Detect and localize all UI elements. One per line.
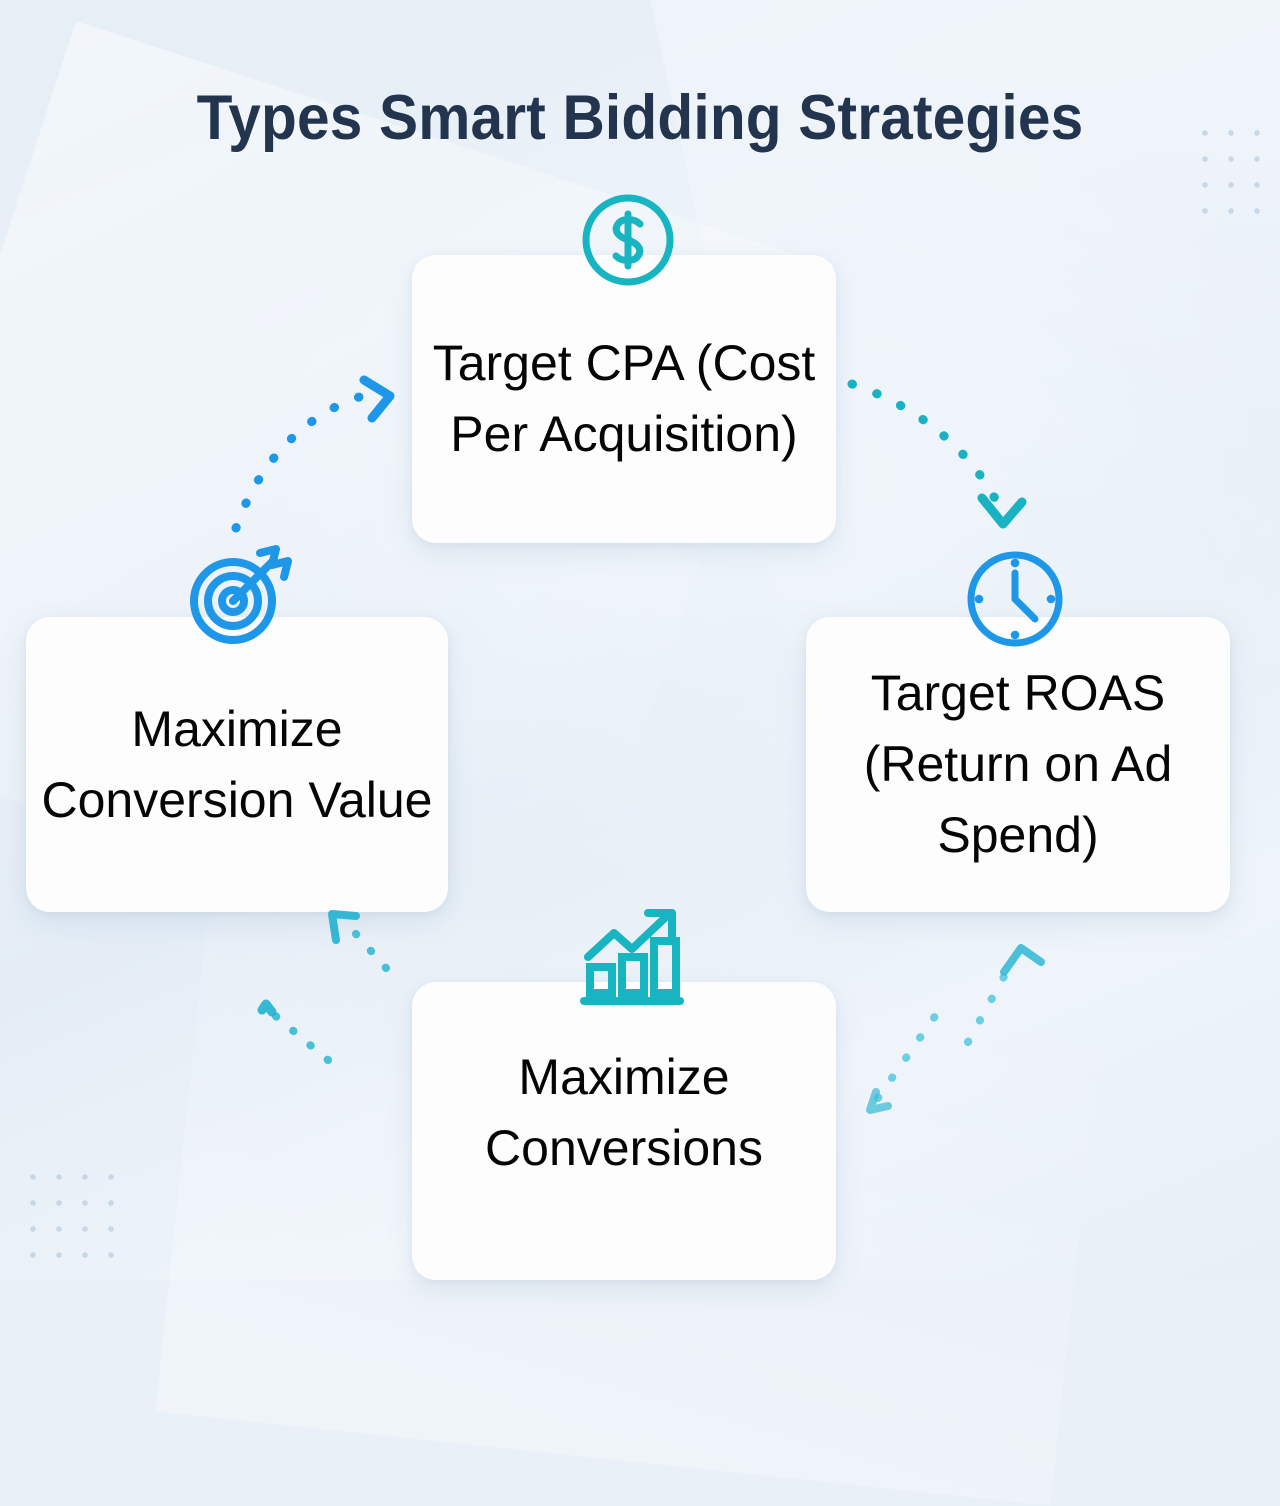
node-label: Maximize Conversion Value <box>26 694 448 836</box>
dot-grid-icon <box>20 1164 124 1268</box>
connector-mc-to-roas-lower <box>870 1012 938 1110</box>
node-label: Target CPA (Cost Per Acquisition) <box>412 328 836 470</box>
connector-mcv-to-cpa <box>236 380 390 528</box>
connector-mc-to-mcv-upper <box>332 914 386 968</box>
node-label: Target ROAS (Return on Ad Spend) <box>806 658 1230 871</box>
infographic-canvas: Types Smart Bidding Strategies <box>0 0 1280 1280</box>
node-card-maximize-conversion-value[interactable]: Maximize Conversion Value <box>26 617 448 912</box>
node-card-maximize-conversions[interactable]: Maximize Conversions <box>412 982 836 1280</box>
node-card-target-roas[interactable]: Target ROAS (Return on Ad Spend) <box>806 617 1230 912</box>
node-label: Maximize Conversions <box>412 1042 836 1184</box>
connector-cpa-to-roas <box>852 384 1022 524</box>
connector-mc-to-roas-upper <box>968 948 1041 1042</box>
node-card-target-cpa[interactable]: Target CPA (Cost Per Acquisition) <box>412 255 836 543</box>
page-title: Types Smart Bidding Strategies <box>45 82 1235 154</box>
connector-mc-to-mcv-lower <box>262 1004 328 1060</box>
